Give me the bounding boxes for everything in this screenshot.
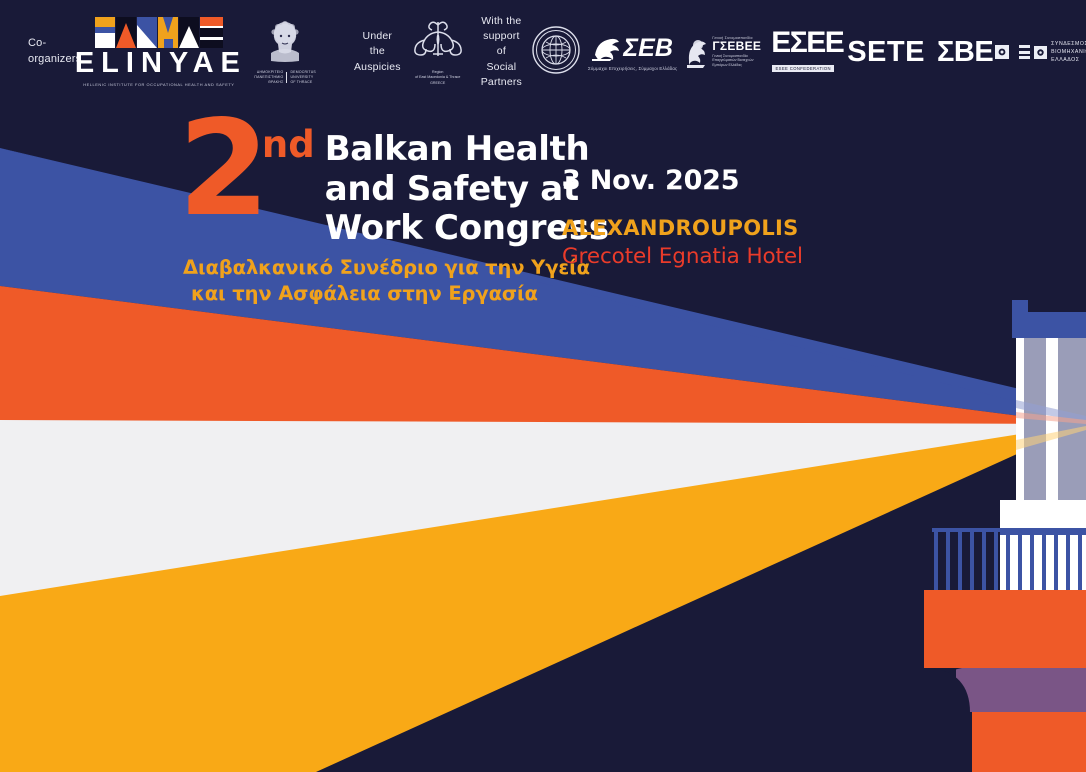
co-organizers-label: Co-organizers xyxy=(28,36,81,68)
event-date: 3 Nov. 2025 xyxy=(562,165,803,196)
logo-gsevee[interactable]: Γενική Συνομοσπονδία ΓΣΕΒΕΕ Γενική Συνομ… xyxy=(685,35,761,69)
congress-title-block: 2 nd Balkan Health and Safety at Work Co… xyxy=(178,118,609,307)
region-palmette-emblem-icon xyxy=(411,18,465,64)
lighthouse-band-purple xyxy=(956,668,1086,712)
subtitle-line-2: και την Ασφάλεια στην Εργασία xyxy=(191,281,609,307)
esee-wordmark: ΕΣΕΕ xyxy=(771,29,835,58)
ordinal-marker: 2 nd xyxy=(178,118,315,221)
duth-greek-name: ΔΗΜΟΚΡΙΤΕΙΟ ΠΑΝΕΠΙΣΤΗΜΙΟ ΘΡΑΚΗΣ xyxy=(254,70,283,84)
congress-banner: Co-organizers xyxy=(0,0,1086,772)
sete-wordmark: SETE xyxy=(847,36,925,69)
sev-lion-icon xyxy=(592,35,620,61)
lighthouse-shadow-curve-4 xyxy=(900,668,970,772)
duth-divider xyxy=(286,72,287,83)
esee-tagline: ESEE CONFEDERATION xyxy=(772,65,834,72)
elinyae-tagline: HELLENIC INSTITUTE FOR OCCUPATIONAL HEAL… xyxy=(83,82,234,87)
event-venue: Grecotel Egnatia Hotel xyxy=(562,244,803,269)
sbe-gear-icon xyxy=(1034,46,1047,59)
elinyae-flag-tiles-icon xyxy=(95,17,223,48)
duth-english-name: DEMOCRITUS UNIVERSITY OF THRACE xyxy=(290,70,316,84)
lighthouse-band-orange-upper xyxy=(924,590,1086,668)
subtitle-line-1: Διαβαλκανικό Συνέδριο για την Υγεία xyxy=(183,256,590,279)
logo-sev[interactable]: ΣΕΒ Σύμμαχοι Επιχειρήσεις, Σύμμαχοι Ελλά… xyxy=(588,34,677,71)
title-line-1: Balkan Health xyxy=(325,130,609,170)
sbe-bars-gear-icon xyxy=(1019,45,1030,59)
logo-elinyae[interactable]: ELINYAE HELLENIC INSTITUTE FOR OCCUPATIO… xyxy=(91,17,226,86)
gsevee-lion-icon xyxy=(685,35,709,69)
sponsor-logo-bar: Co-organizers xyxy=(0,0,1086,104)
sev-tagline: Σύμμαχοι Επιχειρήσεις, Σύμμαχοι Ελλάδας xyxy=(588,66,677,71)
sev-wordmark: ΣΕΒ xyxy=(623,34,673,63)
logo-gsee[interactable] xyxy=(532,26,580,79)
sbe-greece-name: ΣΥΝΔΕΣΜΟΣ ΒΙΟΜΗΧΑΝΙΩΝ ΕΛΛΑΔΟΣ xyxy=(1051,40,1086,64)
ordinal-suffix: nd xyxy=(262,126,315,163)
elinyae-wordmark: ELINYAE xyxy=(75,48,247,78)
social-partners-label: With the support of Social Partners xyxy=(481,14,522,90)
lighthouse-railing xyxy=(932,528,1086,590)
sve-gear-mark-icon xyxy=(995,45,1009,59)
lighthouse-icon xyxy=(900,300,1086,772)
event-details-block: 3 Nov. 2025 ALEXANDROUPOLIS Grecotel Egn… xyxy=(562,165,803,269)
gsevee-wordmark: ΓΣΕΒΕΕ xyxy=(712,40,761,53)
logo-sbe-greece[interactable]: ΣΥΝΔΕΣΜΟΣ ΒΙΟΜΗΧΑΝΙΩΝ ΕΛΛΑΔΟΣ xyxy=(1019,40,1086,64)
lighthouse-roof-ledge xyxy=(1012,326,1086,338)
logo-region-east-macedonia-thrace[interactable]: Region of East Macedonia & Thrace GREECE xyxy=(411,18,465,85)
lighthouse-tower-orange xyxy=(972,712,1086,772)
logo-sve[interactable]: ΣΒΕ xyxy=(937,36,1009,69)
democritus-bust-icon xyxy=(265,19,305,63)
under-auspices-label: Under the Auspicies xyxy=(354,29,401,75)
ordinal-number: 2 xyxy=(178,118,264,221)
gsevee-tagline: Γενική Συνομοσπονδία Επαγγελματιών Βιοτε… xyxy=(712,54,761,68)
logo-esee[interactable]: ΕΣΕΕ ESEE CONFEDERATION xyxy=(771,29,835,76)
congress-subtitle-greek: Διαβαλκανικό Συνέδριο για την Υγεία και … xyxy=(183,255,609,308)
event-city: ALEXANDROUPOLIS xyxy=(562,216,803,240)
lighthouse-roof-step xyxy=(1028,300,1086,312)
sve-wordmark: ΣΒΕ xyxy=(937,36,993,69)
region-caption: Region of East Macedonia & Thrace GREECE xyxy=(411,70,465,85)
duth-bilingual-text: ΔΗΜΟΚΡΙΤΕΙΟ ΠΑΝΕΠΙΣΤΗΜΙΟ ΘΡΑΚΗΣ DEMOCRIT… xyxy=(254,70,316,84)
logo-democritus-university[interactable]: ΔΗΜΟΚΡΙΤΕΙΟ ΠΑΝΕΠΙΣΤΗΜΙΟ ΘΡΑΚΗΣ DEMOCRIT… xyxy=(254,19,316,84)
gsee-seal-icon xyxy=(532,26,580,74)
logo-sete[interactable]: SETE xyxy=(847,36,925,69)
